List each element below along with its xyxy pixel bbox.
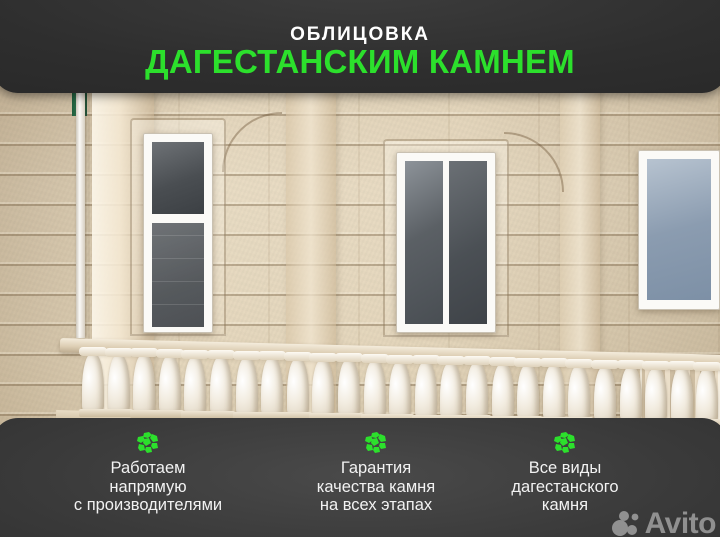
feature-item-3: Все виды дагестанского камня — [470, 430, 660, 515]
avito-watermark: Avito — [611, 509, 716, 537]
baluster — [133, 355, 155, 413]
footer-banner: Работаем напрямую с производителями — [0, 418, 720, 537]
baluster — [210, 357, 232, 414]
baluster — [671, 368, 693, 421]
baluster — [287, 359, 309, 415]
downpipe — [76, 92, 85, 338]
header-banner: ОБЛИЦОВКА ДАГЕСТАНСКИМ КАМНЕМ — [0, 0, 720, 93]
baluster — [492, 364, 514, 419]
stone-cluster-icon — [470, 430, 660, 456]
window-center — [396, 152, 496, 333]
baluster — [261, 358, 283, 415]
stone-cluster-icon — [282, 430, 470, 456]
baluster — [108, 355, 130, 413]
balcony-balustrade — [0, 318, 720, 423]
header-title-secondary: ДАГЕСТАНСКИМ КАМНЕМ — [0, 43, 720, 81]
advertisement-card: ОБЛИЦОВКА ДАГЕСТАНСКИМ КАМНЕМ — [0, 0, 720, 537]
baluster — [696, 369, 718, 422]
window-pane — [405, 161, 443, 324]
stone-cluster-icon — [14, 430, 282, 456]
feature-item-2: Гарантия качества камня на всех этапах — [282, 430, 470, 515]
baluster — [236, 358, 258, 415]
window-left — [143, 133, 213, 333]
baluster — [389, 362, 411, 418]
baluster — [312, 360, 334, 416]
feature-text: Гарантия качества камня на всех этапах — [282, 459, 470, 515]
baluster — [184, 357, 206, 414]
baluster — [440, 363, 462, 418]
window-pane — [152, 142, 204, 214]
baluster — [568, 366, 590, 420]
baluster — [620, 367, 642, 421]
baluster — [466, 363, 488, 418]
baluster — [159, 356, 181, 413]
baluster — [415, 362, 437, 417]
baluster — [517, 365, 539, 420]
baluster — [338, 360, 360, 416]
feature-item-1: Работаем напрямую с производителями — [14, 430, 282, 515]
baluster — [543, 365, 565, 419]
avito-logo-text: Avito — [645, 509, 716, 537]
baluster — [594, 367, 616, 421]
window-pane — [449, 161, 487, 324]
baluster — [364, 361, 386, 417]
feature-list: Работаем напрямую с производителями — [14, 430, 718, 515]
avito-logo-icon — [611, 509, 641, 537]
window-right — [638, 150, 720, 310]
feature-text: Все виды дагестанского камня — [470, 459, 660, 515]
window-pane — [647, 159, 711, 300]
window-pane — [152, 223, 204, 327]
baluster — [82, 354, 104, 412]
baluster — [645, 368, 667, 422]
feature-text: Работаем напрямую с производителями — [14, 459, 282, 515]
